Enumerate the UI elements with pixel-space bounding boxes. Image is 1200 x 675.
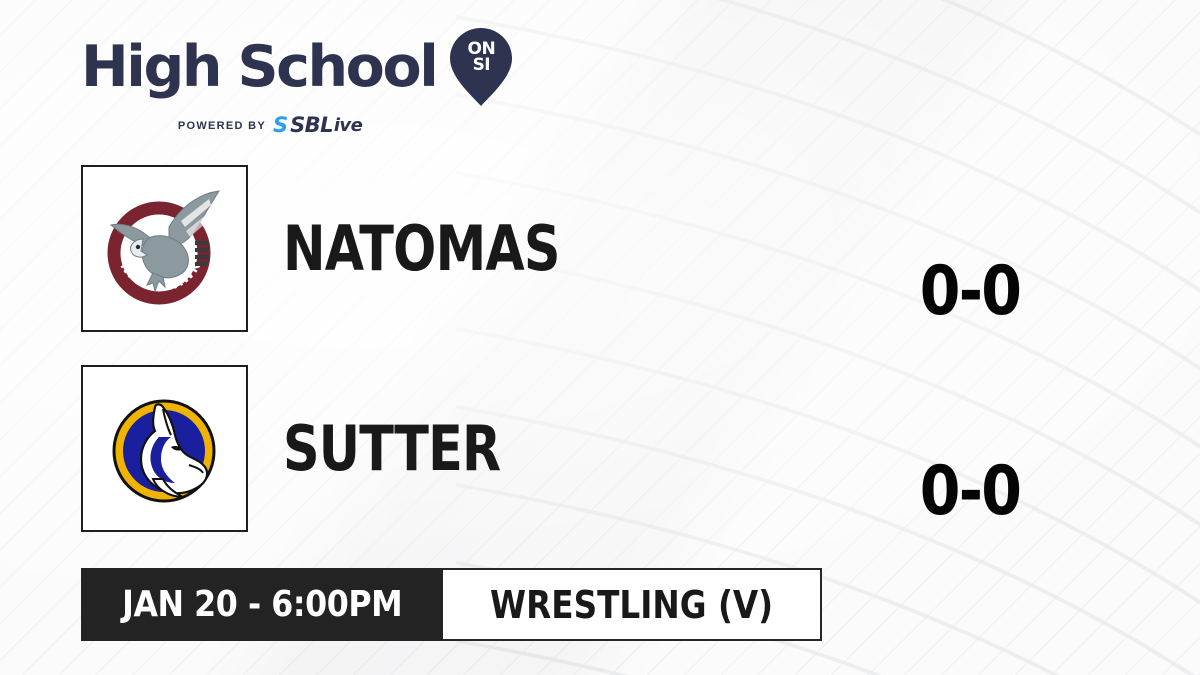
on-si-pin-text: ON SI bbox=[450, 41, 512, 73]
game-sport: WRESTLING (V) bbox=[443, 568, 822, 641]
sblive-s-mark: S bbox=[273, 115, 287, 136]
game-date-time: JAN 20 - 6:00PM bbox=[81, 568, 443, 641]
pin-line-si: SI bbox=[450, 57, 512, 73]
brand-logo-row: High School ON SI bbox=[81, 28, 511, 106]
brand-title: High School bbox=[81, 39, 436, 96]
nighthawks-logo-icon: NIGHTHAWKS bbox=[97, 181, 232, 316]
team-name: SUTTER bbox=[283, 418, 500, 480]
on-si-pin-icon: ON SI bbox=[450, 28, 512, 106]
sblive-wordmark-suffix: ive bbox=[334, 117, 362, 135]
powered-by-label: POWERED BY bbox=[178, 120, 266, 132]
team-logo-box bbox=[81, 365, 248, 532]
sblive-logo: S SBL ive bbox=[273, 115, 362, 136]
team-record: 0-0 bbox=[901, 458, 1039, 526]
game-sport-label: WRESTLING (V) bbox=[490, 586, 773, 624]
matchup-graphic: High School ON SI POWERED BY S SBL ive bbox=[0, 0, 1200, 675]
husky-logo-icon bbox=[97, 381, 232, 516]
game-info-bar: JAN 20 - 6:00PM WRESTLING (V) bbox=[81, 568, 822, 641]
sblive-wordmark: SBL bbox=[290, 115, 333, 136]
team-name: NATOMAS bbox=[283, 218, 560, 280]
team-record: 0-0 bbox=[901, 258, 1039, 326]
game-date-time-label: JAN 20 - 6:00PM bbox=[122, 587, 402, 623]
powered-by-row: POWERED BY S SBL ive bbox=[81, 115, 511, 136]
brand-header: High School ON SI POWERED BY S SBL ive bbox=[81, 28, 511, 136]
team-logo-box: NIGHTHAWKS bbox=[81, 165, 248, 332]
